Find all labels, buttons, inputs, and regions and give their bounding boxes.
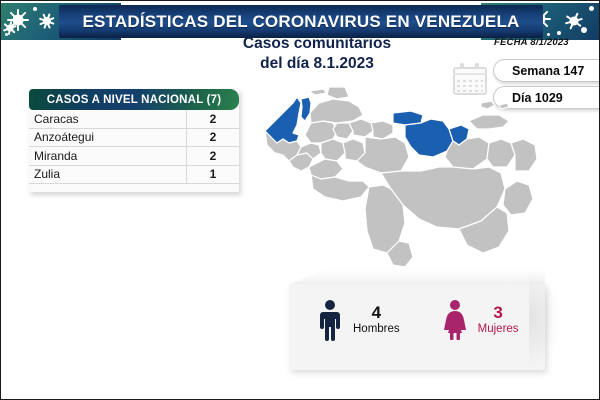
fecha-label: FECHA 8/1/2023 bbox=[494, 37, 569, 48]
women-label: Mujeres bbox=[478, 322, 519, 336]
virus-dot bbox=[33, 7, 37, 11]
map-state-guajira[interactable] bbox=[327, 87, 349, 99]
map-state-delta-tail[interactable] bbox=[503, 181, 533, 215]
map-state-aragua[interactable] bbox=[371, 121, 393, 139]
venezuela-map-svg bbox=[253, 81, 543, 281]
gender-stats-panel: 4 Hombres 3 Mujeres bbox=[289, 269, 545, 373]
semana-badge[interactable]: Semana 147 bbox=[493, 59, 600, 82]
coronavirus-icon bbox=[565, 12, 583, 30]
page-title-line2: del día 8.1.2023 bbox=[207, 54, 427, 74]
map-state-guarico[interactable] bbox=[357, 137, 409, 173]
women-stat-text: 3 Mujeres bbox=[478, 304, 519, 336]
men-label: Hombres bbox=[353, 322, 400, 336]
map-state-sucre[interactable] bbox=[469, 115, 509, 129]
banner-title: ESTADÍSTICAS DEL CORONAVIRUS EN VENEZUEL… bbox=[82, 12, 519, 32]
calendar-header-bar bbox=[453, 67, 487, 75]
state-cases: 1 bbox=[187, 167, 239, 181]
women-stat: 3 Mujeres bbox=[442, 299, 519, 341]
women-count: 3 bbox=[478, 304, 519, 322]
panel-top-surface bbox=[289, 269, 545, 285]
male-figure-icon bbox=[317, 299, 343, 341]
virus-dot bbox=[547, 33, 550, 36]
map-state-portuguesa[interactable] bbox=[321, 139, 345, 161]
map-state-carabobo[interactable] bbox=[349, 119, 373, 137]
men-count: 4 bbox=[353, 304, 400, 322]
state-name: Miranda bbox=[29, 147, 187, 165]
men-stat: 4 Hombres bbox=[317, 299, 400, 341]
men-stat-text: 4 Hombres bbox=[353, 304, 400, 336]
state-name: Zulia bbox=[29, 166, 187, 184]
table-row[interactable]: Anzoátegui 2 bbox=[29, 129, 239, 148]
coronavirus-icon bbox=[3, 21, 17, 35]
virus-dot bbox=[581, 27, 587, 33]
venezuela-map[interactable] bbox=[253, 81, 543, 281]
virus-dot bbox=[557, 31, 561, 35]
table-row[interactable]: Zulia 1 bbox=[29, 166, 239, 185]
coronavirus-icon bbox=[39, 13, 55, 29]
female-figure-icon bbox=[442, 299, 468, 341]
state-name: Anzoátegui bbox=[29, 129, 187, 147]
map-state-apure[interactable] bbox=[311, 175, 369, 201]
state-name: Caracas bbox=[29, 110, 187, 128]
national-cases-table: CASOS A NIVEL NACIONAL (7) Caracas 2 Anz… bbox=[29, 89, 239, 192]
page-title: Casos comunitarios del día 8.1.2023 bbox=[207, 34, 427, 74]
map-state-delta[interactable] bbox=[511, 139, 537, 171]
gender-stats-row: 4 Hombres 3 Mujeres bbox=[289, 299, 545, 341]
map-state-falcon-body[interactable] bbox=[310, 99, 363, 123]
infographic-screen: ESTADÍSTICAS DEL CORONAVIRUS EN VENEZUEL… bbox=[0, 0, 600, 400]
state-cases: 2 bbox=[187, 112, 239, 126]
table-header: CASOS A NIVEL NACIONAL (7) bbox=[29, 89, 239, 110]
map-island-small[interactable] bbox=[499, 103, 509, 109]
table-row[interactable]: Miranda 2 bbox=[29, 147, 239, 166]
map-island-north[interactable] bbox=[309, 89, 327, 95]
page-title-line1: Casos comunitarios bbox=[243, 35, 391, 52]
map-island-nueva-esparta[interactable] bbox=[481, 101, 495, 109]
map-state-falcon[interactable] bbox=[301, 97, 311, 121]
map-state-miranda[interactable] bbox=[405, 119, 453, 157]
table-row[interactable]: Caracas 2 bbox=[29, 110, 239, 129]
state-cases: 2 bbox=[187, 130, 239, 144]
state-cases: 2 bbox=[187, 149, 239, 163]
virus-dot bbox=[589, 6, 594, 11]
